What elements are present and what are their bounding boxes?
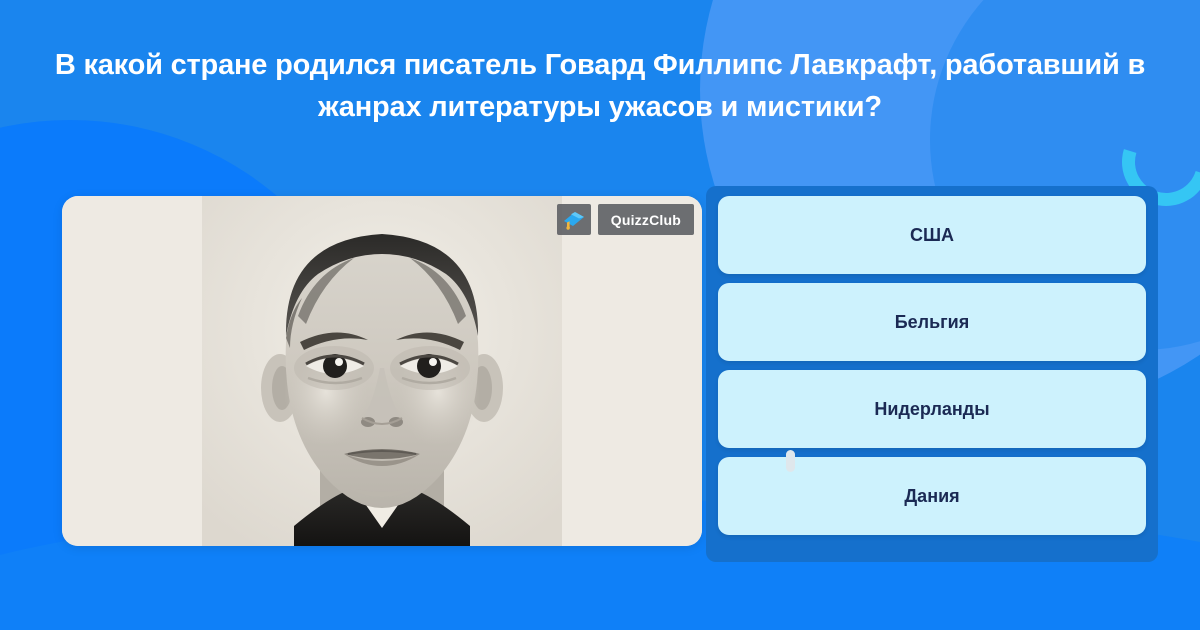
answer-option-3[interactable]: Нидерланды [718,370,1146,448]
scroll-thumb[interactable] [786,450,795,472]
answer-option-3-label: Нидерланды [874,399,989,420]
answer-option-1[interactable]: США [718,196,1146,274]
watermark: QuizzClub [557,204,694,235]
portrait-image [202,196,562,546]
answer-option-4-label: Дания [904,486,959,507]
portrait-photo [62,196,702,546]
answer-option-1-label: США [910,225,954,246]
answer-option-2[interactable]: Бельгия [718,283,1146,361]
answers-list: США Бельгия Нидерланды Дания [718,196,1146,535]
graduation-cap-glyph [563,210,585,230]
answer-option-2-label: Бельгия [895,312,970,333]
graduation-cap-icon [557,204,591,235]
question-text: В какой стране родился писатель Говард Ф… [50,44,1150,128]
answer-option-4[interactable]: Дания [718,457,1146,535]
quiz-card: В какой стране родился писатель Говард Ф… [0,0,1200,630]
watermark-label: QuizzClub [598,204,694,235]
question-image-card: QuizzClub [62,196,702,546]
